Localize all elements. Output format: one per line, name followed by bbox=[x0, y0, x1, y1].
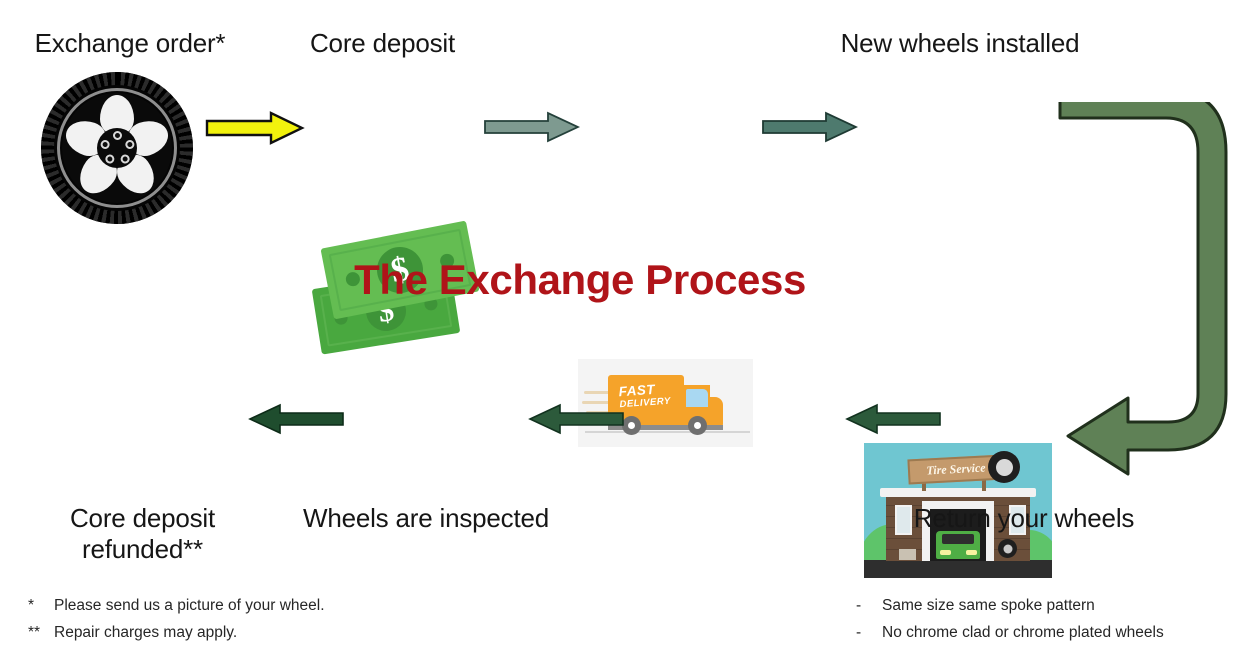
step-label-core-deposit-refunded: Core deposit refunded** bbox=[25, 503, 260, 564]
note-item: - Same size same spoke pattern bbox=[856, 593, 1246, 620]
sign-post bbox=[982, 479, 986, 491]
rim-face bbox=[62, 93, 172, 203]
step-label-new-wheels-installed: New wheels installed bbox=[790, 28, 1130, 59]
arrow-return-to-truck bbox=[845, 403, 941, 435]
arrow-order-to-deposit bbox=[205, 110, 305, 146]
note-text: Repair charges may apply. bbox=[54, 620, 237, 647]
truck-wheel bbox=[688, 416, 707, 435]
arrow-right-icon bbox=[762, 110, 858, 144]
arrow-shop-to-return bbox=[1044, 102, 1250, 477]
step-label-return-your-wheels: Return your wheels bbox=[874, 503, 1174, 534]
notes-left: * Please send us a picture of your wheel… bbox=[28, 593, 508, 646]
note-marker: - bbox=[856, 620, 882, 647]
spare-tire bbox=[998, 539, 1017, 558]
arrow-left-icon bbox=[845, 403, 941, 435]
sign-tire-icon bbox=[988, 451, 1020, 483]
lug-nut bbox=[113, 131, 122, 140]
arrow-right-icon bbox=[205, 110, 305, 146]
note-marker: * bbox=[28, 593, 54, 620]
arrow-left-icon bbox=[248, 403, 344, 435]
speed-line bbox=[584, 391, 610, 394]
wheel-dark-rim-icon bbox=[41, 72, 193, 224]
note-text: Please send us a picture of your wheel. bbox=[54, 593, 325, 620]
shop-ground bbox=[864, 560, 1052, 578]
note-text: No chrome clad or chrome plated wheels bbox=[882, 620, 1164, 647]
truck-text: FAST DELIVERY bbox=[618, 381, 686, 411]
note-text: Same size same spoke pattern bbox=[882, 593, 1095, 620]
exchange-process-diagram: Exchange order* Core deposit $ bbox=[0, 0, 1250, 666]
arrow-truck-to-shop bbox=[762, 110, 858, 144]
note-item: - No chrome clad or chrome plated wheels bbox=[856, 620, 1246, 647]
step-label-exchange-order: Exchange order* bbox=[0, 28, 260, 59]
truck-window bbox=[686, 389, 708, 407]
car-headlight bbox=[940, 550, 951, 555]
shop-roof bbox=[880, 488, 1036, 497]
truck-nose bbox=[706, 397, 723, 428]
arrow-right-icon bbox=[484, 110, 580, 144]
note-marker: - bbox=[856, 593, 882, 620]
note-item: * Please send us a picture of your wheel… bbox=[28, 593, 508, 620]
note-marker: ** bbox=[28, 620, 54, 647]
step-label-core-deposit: Core deposit bbox=[245, 28, 520, 59]
note-item: ** Repair charges may apply. bbox=[28, 620, 508, 647]
arrow-inspected-to-refund bbox=[248, 403, 344, 435]
truck-wheel bbox=[622, 416, 641, 435]
car-windshield bbox=[942, 534, 974, 544]
car-headlight bbox=[966, 550, 977, 555]
arrow-deposit-to-truck bbox=[484, 110, 580, 144]
page-title: The Exchange Process bbox=[275, 256, 885, 304]
curved-arrow-icon bbox=[1044, 102, 1250, 477]
shop-crate bbox=[899, 549, 916, 560]
arrow-truck-to-inspected bbox=[528, 403, 624, 435]
notes-right: - Same size same spoke pattern - No chro… bbox=[856, 593, 1246, 646]
step-label-wheels-are-inspected: Wheels are inspected bbox=[286, 503, 566, 534]
arrow-left-icon bbox=[528, 403, 624, 435]
